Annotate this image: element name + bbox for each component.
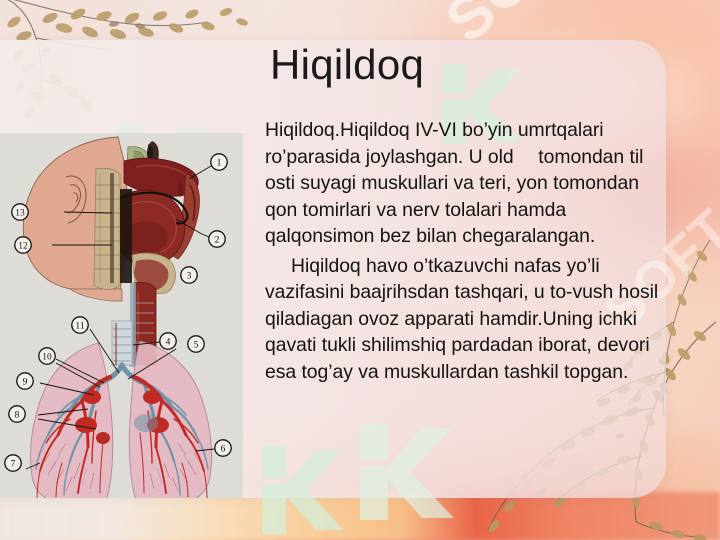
paragraph-2: Hiqildoq havo o’tkazuvchi nafas yo’li va… bbox=[265, 253, 669, 386]
svg-text:5: 5 bbox=[194, 341, 199, 351]
svg-text:7: 7 bbox=[11, 460, 16, 470]
slide-canvas: SOFT SOFT bbox=[0, 0, 720, 540]
svg-text:13: 13 bbox=[15, 209, 25, 219]
callout-3: 3 bbox=[181, 267, 197, 283]
slide-body-text: Hiqildoq.Hiqildoq IV-VI bo’yin umrtqalar… bbox=[265, 117, 669, 385]
svg-text:10: 10 bbox=[42, 353, 52, 363]
page-title: Hiqildoq bbox=[270, 43, 424, 87]
callout-7: 7 bbox=[5, 455, 21, 471]
callout-6: 6 bbox=[215, 440, 231, 456]
svg-text:11: 11 bbox=[75, 322, 84, 332]
svg-text:3: 3 bbox=[187, 272, 192, 282]
para2-line6: tog’ay va muskullardan tashkil topgan. bbox=[301, 361, 628, 383]
svg-text:4: 4 bbox=[166, 338, 171, 348]
callout-8: 8 bbox=[9, 406, 25, 422]
para1-line5: tomirlari va nerv tolalari hamda bbox=[303, 199, 567, 221]
cervical-vertebrae bbox=[94, 168, 120, 289]
svg-text:8: 8 bbox=[15, 411, 20, 421]
paragraph-1: Hiqildoq.Hiqildoq IV-VI bo’yin umrtqalar… bbox=[265, 117, 669, 250]
svg-text:6: 6 bbox=[221, 445, 226, 455]
svg-text:1: 1 bbox=[217, 159, 222, 169]
callout-12: 12 bbox=[15, 237, 31, 253]
callout-4: 4 bbox=[160, 333, 176, 349]
callout-2: 2 bbox=[209, 231, 225, 247]
callout-13: 13 bbox=[12, 204, 28, 220]
callout-1: 1 bbox=[211, 154, 227, 170]
callout-5: 5 bbox=[188, 336, 204, 352]
callout-11: 11 bbox=[72, 317, 88, 333]
svg-text:9: 9 bbox=[23, 378, 28, 388]
background-bottom-band bbox=[0, 492, 720, 540]
callout-10: 10 bbox=[39, 348, 55, 364]
anatomy-diagram-svg: 1 2 3 13 12 bbox=[0, 133, 243, 498]
svg-text:2: 2 bbox=[215, 236, 220, 246]
para1-line6: qalqonsimon bez bilan chegaralangan. bbox=[265, 225, 595, 247]
para1-line1: Hiqildoq.Hiqildoq IV-VI bo’yin bbox=[265, 119, 512, 141]
anatomy-illustration-panel: 1 2 3 13 12 bbox=[0, 133, 243, 498]
callout-9: 9 bbox=[17, 373, 33, 389]
para2-line1: Hiqildoq havo o’tkazuvchi nafas bbox=[291, 255, 561, 277]
svg-text:12: 12 bbox=[18, 242, 28, 252]
